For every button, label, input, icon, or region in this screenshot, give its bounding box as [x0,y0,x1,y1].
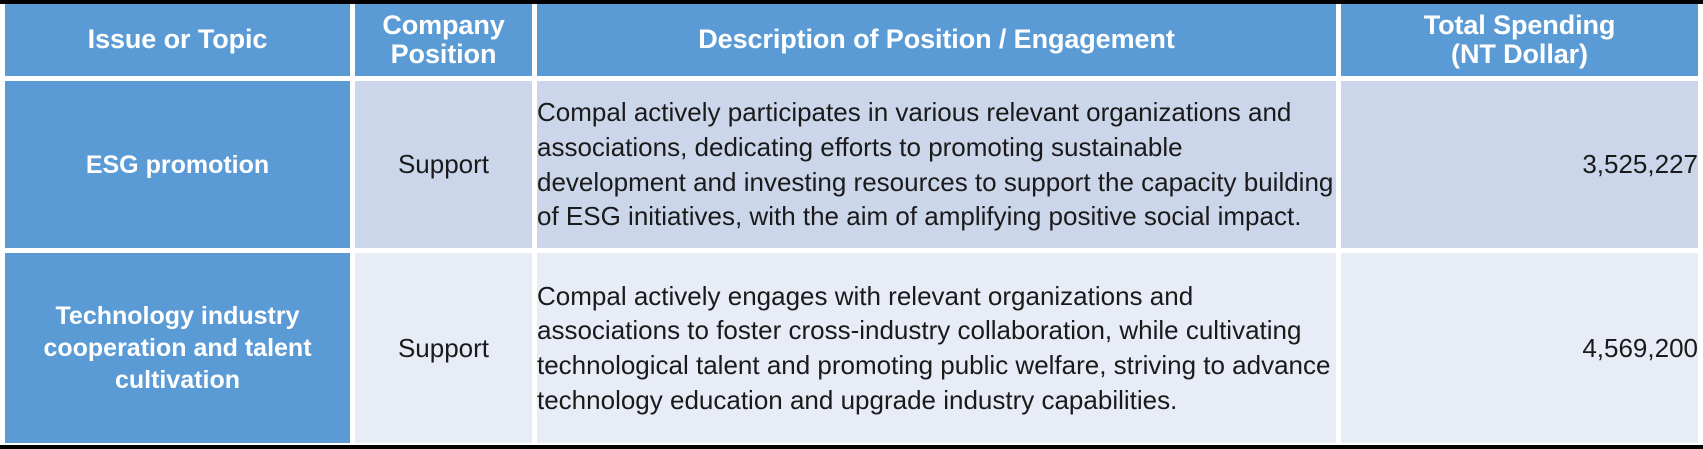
cell-company-position: Support [355,81,537,253]
lobbying-engagement-table: Issue or Topic CompanyPosition Descripti… [0,4,1703,443]
table-row: Technology industry cooperation and tale… [0,253,1703,443]
cell-issue-or-topic: ESG promotion [0,81,355,253]
column-header-description-of-position-engagement: Description of Position / Engagement [537,4,1341,81]
table-header-row: Issue or Topic CompanyPosition Descripti… [0,4,1703,81]
column-header-company-position: CompanyPosition [355,4,537,81]
column-header-company-position-line2: Position [391,39,497,69]
cell-total-spending: 4,569,200 [1341,253,1703,443]
column-header-total-spending: Total Spending(NT Dollar) [1341,4,1703,81]
cell-description: Compal actively participates in various … [537,81,1341,253]
table-row: ESG promotion Support Compal actively pa… [0,81,1703,253]
column-header-issue-or-topic: Issue or Topic [0,4,355,81]
column-header-total-spending-line1: Total Spending [1424,10,1616,40]
column-header-company-position-line1: Company [382,10,504,40]
bottom-divider-rule [0,445,1703,449]
cell-company-position: Support [355,253,537,443]
lobbying-table-page: Issue or Topic CompanyPosition Descripti… [0,0,1703,449]
column-header-total-spending-line2: (NT Dollar) [1451,39,1588,69]
cell-description: Compal actively engages with relevant or… [537,253,1341,443]
cell-total-spending: 3,525,227 [1341,81,1703,253]
cell-issue-or-topic: Technology industry cooperation and tale… [0,253,355,443]
